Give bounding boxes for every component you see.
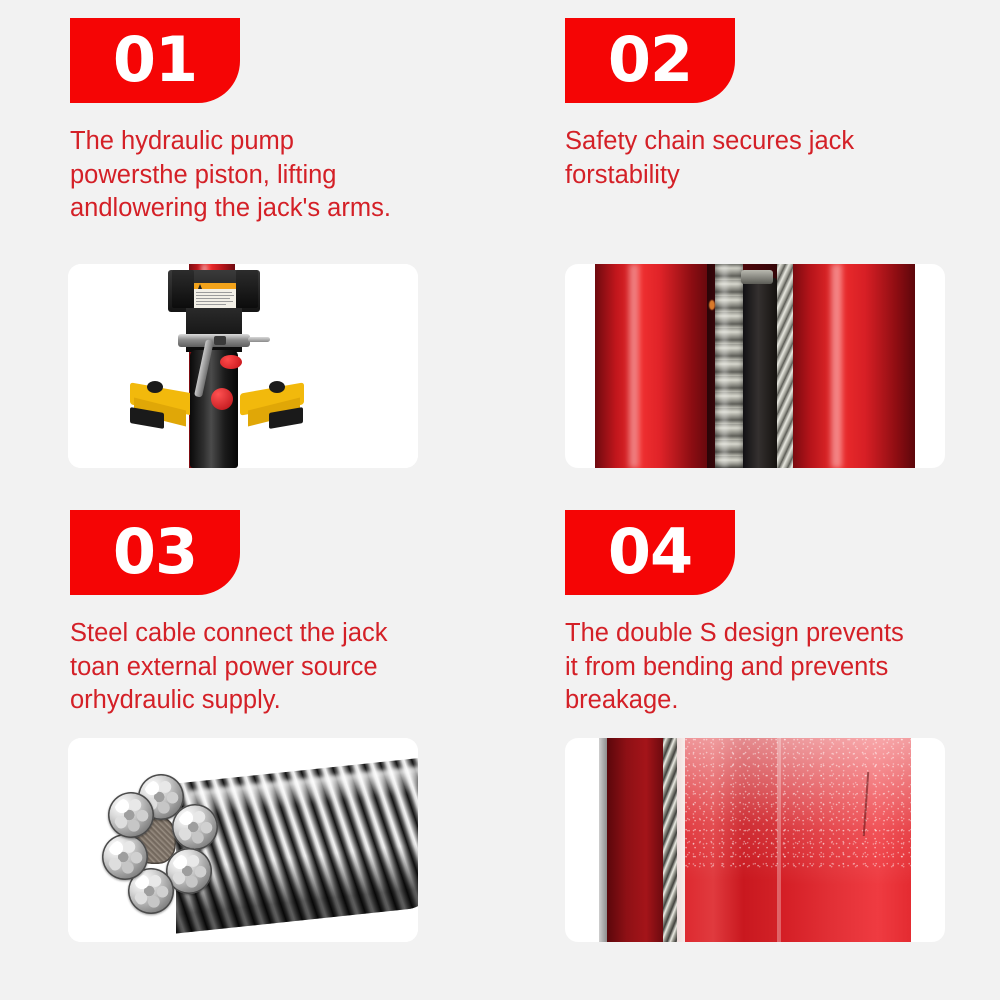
- feature-image-card-03: [68, 738, 418, 942]
- feature-caption-03: Steel cable connect the jack toan extern…: [70, 617, 415, 718]
- badge-number-text: 03: [113, 521, 197, 583]
- hydraulic-pump-photo: [68, 264, 418, 468]
- feature-block-04: 04 The double S design prevents it from …: [565, 510, 1000, 718]
- feature-image-card-04: [565, 738, 945, 942]
- number-badge-01: 01: [70, 18, 240, 103]
- feature-caption-02: Safety chain secures jack forstability: [565, 125, 925, 192]
- feature-image-card-01: [68, 264, 418, 468]
- steel-cable-cross-section-photo: [68, 738, 418, 942]
- feature-block-01: 01 The hydraulic pump powersthe piston, …: [70, 18, 540, 226]
- safety-chain-photo: [565, 264, 945, 468]
- badge-number-text: 02: [608, 29, 692, 91]
- feature-grid: 01 The hydraulic pump powersthe piston, …: [0, 0, 1000, 1000]
- feature-image-card-02: [565, 264, 945, 468]
- number-badge-03: 03: [70, 510, 240, 595]
- feature-caption-01: The hydraulic pump powersthe piston, lif…: [70, 125, 415, 226]
- feature-block-02: 02 Safety chain secures jack forstabilit…: [565, 18, 1000, 192]
- number-badge-04: 04: [565, 510, 735, 595]
- badge-number-text: 01: [113, 29, 197, 91]
- double-s-column-photo: [565, 738, 945, 942]
- warning-label-icon: [194, 283, 236, 309]
- badge-number-text: 04: [608, 521, 692, 583]
- number-badge-02: 02: [565, 18, 735, 103]
- feature-block-03: 03 Steel cable connect the jack toan ext…: [70, 510, 540, 718]
- feature-caption-04: The double S design prevents it from ben…: [565, 617, 905, 718]
